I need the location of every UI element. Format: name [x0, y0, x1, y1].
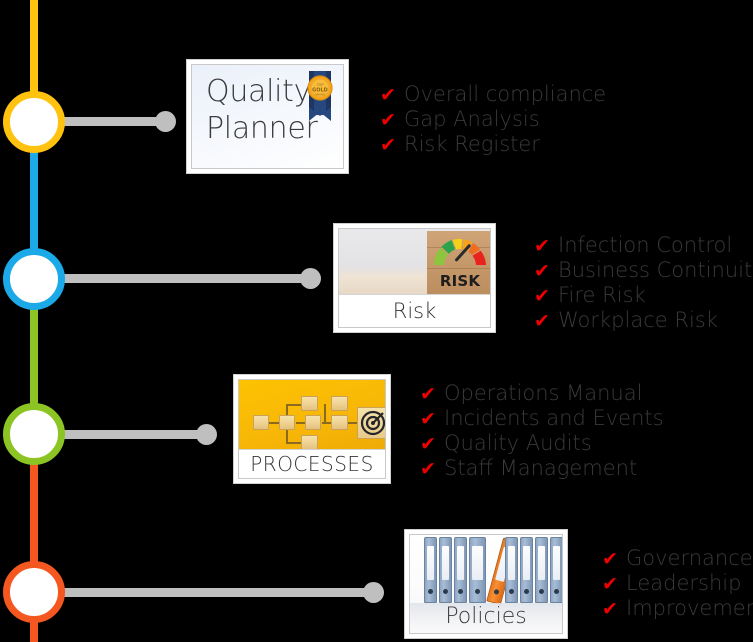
- check-icon: ✔: [420, 435, 444, 454]
- bullet-label: Infection Control: [558, 233, 732, 257]
- check-icon: ✔: [420, 385, 444, 404]
- target-block-icon: [357, 407, 386, 439]
- bullet-label: Improvement: [626, 596, 753, 620]
- connector-line-processes: [60, 430, 213, 439]
- timeline-node-quality-planner[interactable]: [3, 91, 65, 153]
- bullet-item: ✔ Leadership: [602, 571, 753, 596]
- flow-block: [301, 435, 318, 450]
- flow-block: [253, 415, 269, 430]
- bullet-label: Quality Audits: [444, 431, 592, 455]
- spine-segment-orange-tail: [30, 620, 38, 642]
- binder-blue: [535, 537, 548, 603]
- check-icon: ✔: [534, 237, 558, 256]
- check-icon: ✔: [420, 460, 444, 479]
- risk-assessments-bullets: ✔ Infection Control ✔ Business Continuit…: [534, 233, 753, 333]
- binder-blue: [424, 537, 437, 603]
- processes-bullets: ✔ Operations Manual ✔ Incidents and Even…: [420, 381, 664, 481]
- svg-text:TOP: TOP: [316, 83, 324, 87]
- bullet-label: Leadership: [626, 571, 741, 595]
- timeline-node-processes[interactable]: [3, 403, 65, 465]
- connector-dot-risk: [300, 268, 321, 289]
- process-flowchart-blocks-image: [239, 380, 385, 454]
- policies-bullets: ✔ Governance ✔ Leadership ✔ Improvement: [602, 546, 753, 621]
- binder-blue: [520, 537, 533, 603]
- card-processes-caption: PROCESSES: [239, 449, 385, 478]
- spine-segment-green: [30, 304, 38, 404]
- bullet-item: ✔ Business Continuity: [534, 258, 753, 283]
- bullet-item: ✔ Risk Register: [380, 132, 606, 157]
- bullet-item: ✔ Workplace Risk: [534, 308, 753, 333]
- bullet-item: ✔ Staff Management: [420, 456, 664, 481]
- check-icon: ✔: [534, 262, 558, 281]
- bullet-label: Incidents and Events: [444, 406, 664, 430]
- card-policies-caption: Policies: [410, 604, 562, 629]
- binder-blue: [550, 537, 563, 603]
- card-policies[interactable]: Policies: [404, 529, 568, 639]
- check-icon: ✔: [602, 600, 626, 619]
- flow-arrow: [324, 404, 326, 422]
- risk-block-word: RISK: [427, 272, 491, 290]
- bullet-label: Staff Management: [444, 456, 637, 480]
- flow-block: [305, 415, 321, 430]
- card-risk-assessments-caption: Risk Assessments: [339, 294, 490, 327]
- binder-blue: [439, 537, 452, 603]
- check-icon: ✔: [420, 410, 444, 429]
- bullet-label: Workplace Risk: [558, 308, 718, 332]
- bullet-label: Gap Analysis: [404, 107, 540, 131]
- binder-blue: [454, 537, 467, 603]
- connector-dot-processes: [196, 424, 217, 445]
- infographic-canvas: Quality Planner TOP GOLD AWARD: [0, 0, 753, 642]
- card-processes-inner: PROCESSES: [238, 379, 386, 479]
- check-icon: ✔: [534, 312, 558, 331]
- card-risk-assessments-inner: RISK Risk Assessments: [338, 228, 491, 328]
- flow-block: [301, 396, 318, 411]
- quality-planner-bullets: ✔ Overall compliance ✔ Gap Analysis ✔ Ri…: [380, 82, 606, 157]
- svg-text:AWARD: AWARD: [315, 93, 325, 97]
- spine-segment-blue: [30, 148, 38, 254]
- check-icon: ✔: [602, 575, 626, 594]
- binder-blue: [505, 537, 518, 603]
- check-icon: ✔: [380, 111, 404, 130]
- connector-dot-quality: [155, 111, 176, 132]
- timeline-node-policies[interactable]: [3, 561, 65, 623]
- flow-block: [331, 415, 348, 430]
- bullet-item: ✔ Fire Risk: [534, 283, 753, 308]
- risk-wooden-block: RISK: [427, 231, 491, 295]
- bullet-label: Operations Manual: [444, 381, 642, 405]
- bullet-item: ✔ Gap Analysis: [380, 107, 606, 132]
- spine-segment-gold: [30, 0, 38, 100]
- risk-gauge-wooden-block-image: RISK: [339, 229, 490, 297]
- card-quality-planner-title-line2: Planner: [206, 110, 318, 147]
- bullet-item: ✔ Operations Manual: [420, 381, 664, 406]
- card-quality-planner-title-line1: Quality: [206, 73, 311, 110]
- bullet-label: Fire Risk: [558, 283, 646, 307]
- bullet-item: ✔ Overall compliance: [380, 82, 606, 107]
- bullet-item: ✔ Quality Audits: [420, 431, 664, 456]
- bullet-label: Business Continuity: [558, 258, 753, 282]
- connector-line-policies: [60, 588, 380, 597]
- card-quality-planner-inner: Quality Planner TOP GOLD AWARD: [191, 64, 344, 169]
- bullet-label: Risk Register: [404, 132, 540, 156]
- card-quality-planner[interactable]: Quality Planner TOP GOLD AWARD: [186, 59, 349, 174]
- gold-medal-ribbon-icon: TOP GOLD AWARD: [302, 71, 338, 125]
- card-risk-assessments[interactable]: RISK Risk Assessments: [333, 223, 496, 333]
- check-icon: ✔: [380, 86, 404, 105]
- spine-segment-orange: [30, 460, 38, 566]
- card-processes[interactable]: PROCESSES: [233, 374, 391, 484]
- risk-gauge-icon: [431, 236, 489, 266]
- timeline-node-risk-assessments[interactable]: [3, 248, 65, 310]
- check-icon: ✔: [602, 550, 626, 569]
- flow-block: [279, 415, 295, 430]
- bullet-item: ✔ Incidents and Events: [420, 406, 664, 431]
- bullet-label: Overall compliance: [404, 82, 606, 106]
- bullet-label: Governance: [626, 546, 753, 570]
- connector-dot-policies: [363, 582, 384, 603]
- binder-blue: [469, 537, 486, 603]
- connector-line-risk: [60, 274, 318, 283]
- bullet-item: ✔ Infection Control: [534, 233, 753, 258]
- flow-block: [331, 396, 348, 411]
- card-policies-inner: Policies: [409, 534, 563, 634]
- connector-line-quality: [60, 117, 170, 126]
- check-icon: ✔: [534, 287, 558, 306]
- bullet-item: ✔ Governance: [602, 546, 753, 571]
- check-icon: ✔: [380, 136, 404, 155]
- bullet-item: ✔ Improvement: [602, 596, 753, 621]
